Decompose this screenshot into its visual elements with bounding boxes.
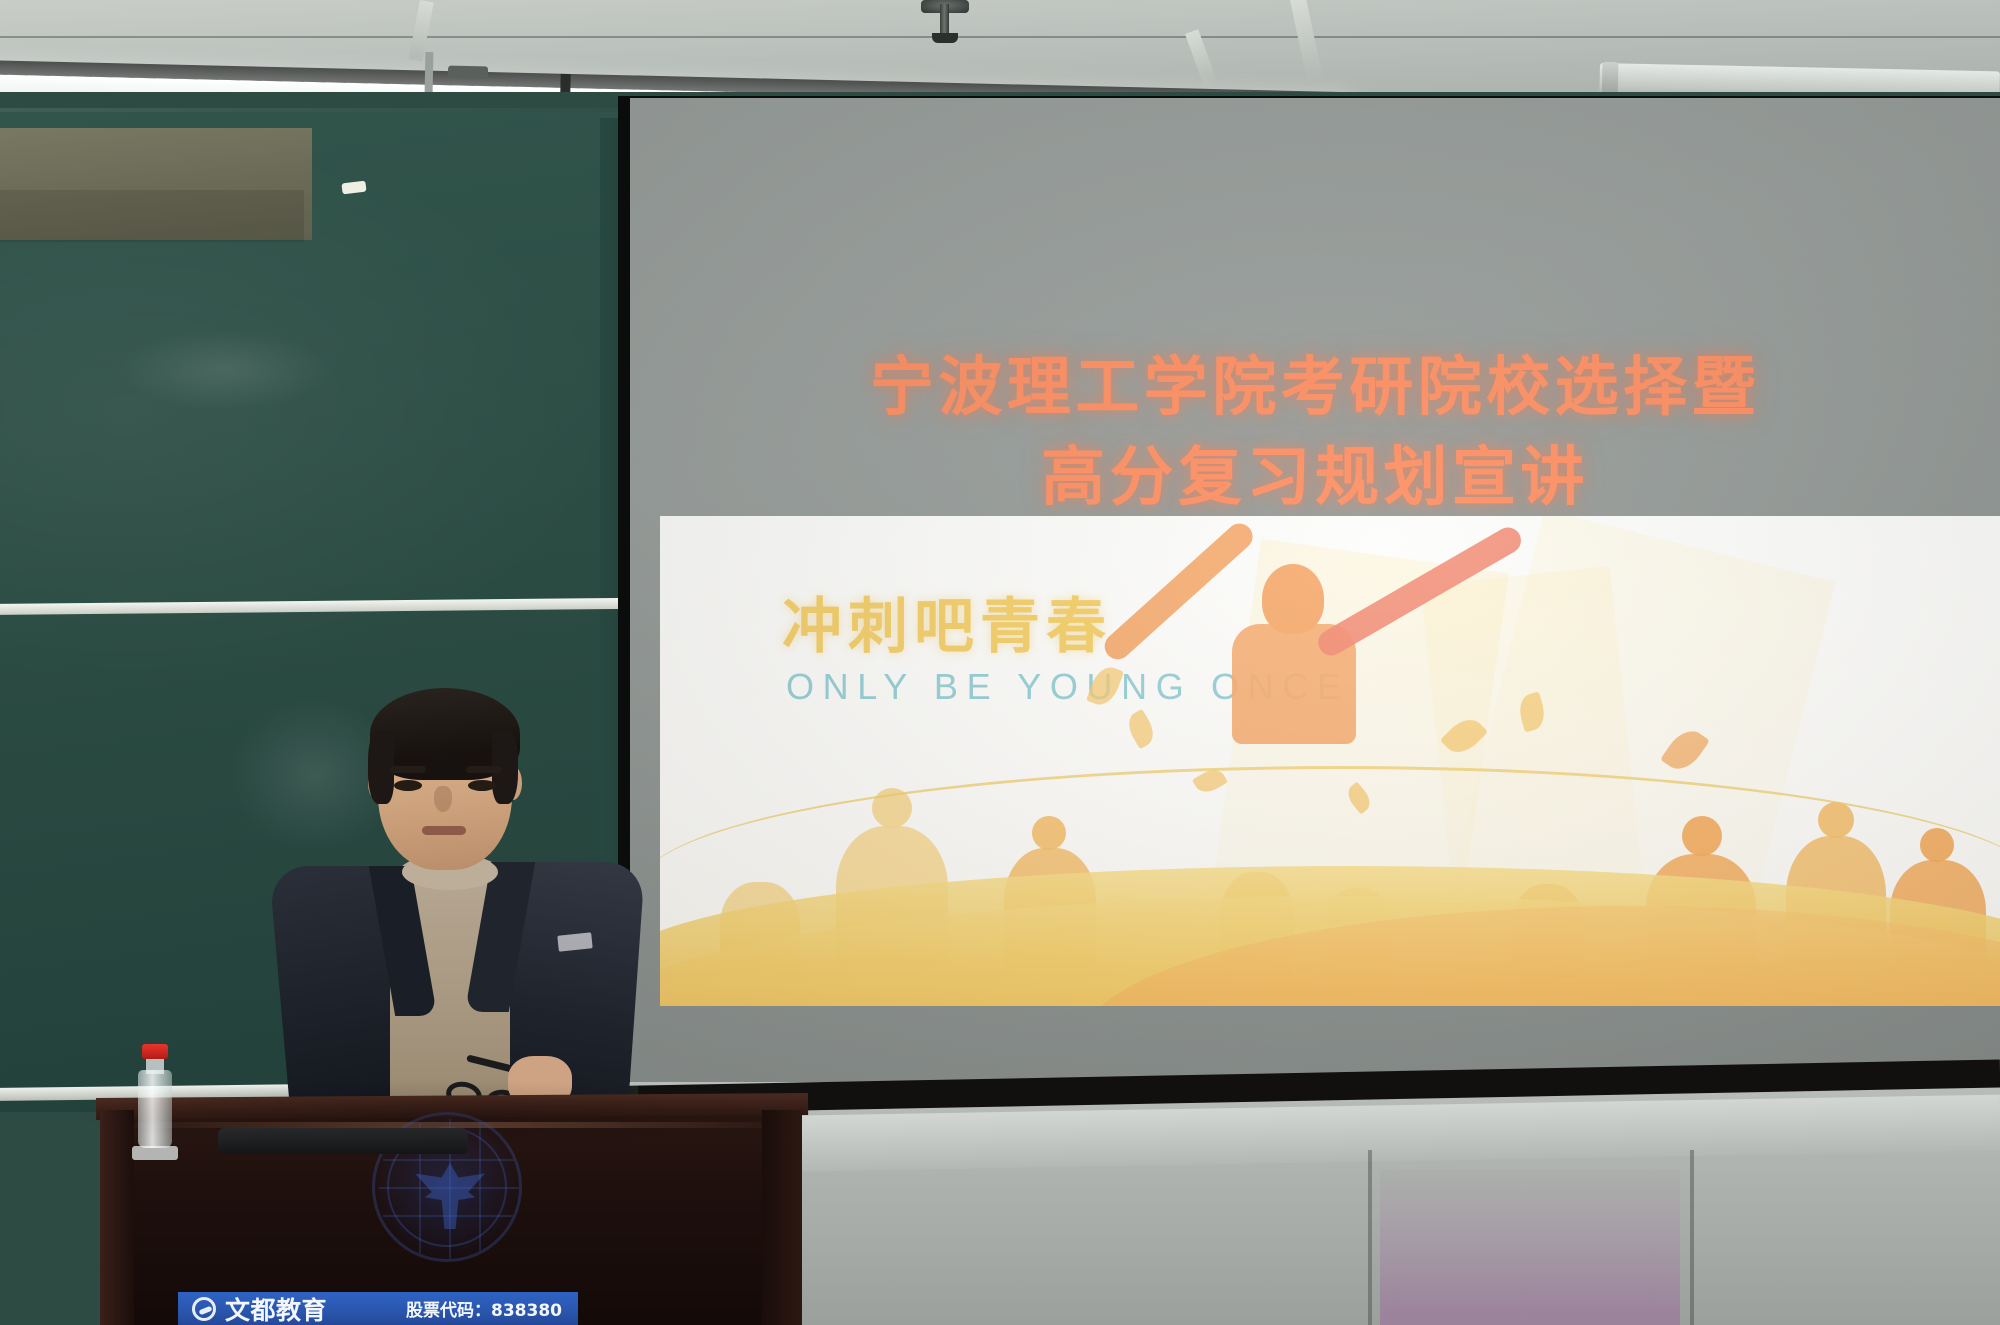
tube-end-cap [448, 66, 488, 79]
slide-card-chinese-text: 冲刺吧青春 [782, 578, 1112, 665]
wall-banner-shade [0, 190, 304, 242]
lectern-left-edge [100, 1110, 134, 1325]
lecture-hall-scene: 宁波理工学院考研院校选择暨 高分复习规划宣讲 冲刺吧青春 ONLY BE YOU… [0, 0, 2000, 1325]
tube-hanger [425, 52, 434, 92]
projection-screen: 宁波理工学院考研院校选择暨 高分复习规划宣讲 冲刺吧青春 ONLY BE YOU… [630, 98, 2000, 1083]
wall-panel [1380, 1170, 1680, 1325]
mouth [422, 826, 466, 835]
bottle-cap [142, 1044, 168, 1059]
sponsor-stock-code: 股票代码：838380 [406, 1296, 562, 1321]
lectern-sponsor-banner: 文都教育 股票代码：838380 [178, 1292, 578, 1325]
slide-title-line-2: 高分复习规划宣讲 [630, 426, 2000, 518]
sponsor-brand-name: 文都教育 [225, 1291, 327, 1325]
leaf-shape [1123, 709, 1159, 749]
slide-content-card: 冲刺吧青春 ONLY BE YOUNG ONCE [660, 516, 2000, 1006]
nose [434, 786, 452, 812]
presenter [270, 690, 650, 1120]
lectern-shadow [60, 1080, 820, 1150]
wendu-logo-icon [192, 1297, 216, 1321]
eyebrow-left [390, 766, 426, 773]
ceiling-seam [0, 36, 2000, 38]
eye-right [468, 780, 496, 791]
eye-left [394, 780, 422, 791]
slide-title-line-1: 宁波理工学院考研院校选择暨 [630, 336, 2000, 428]
lectern-right-edge [762, 1110, 802, 1325]
wall-seam [1368, 1150, 1372, 1325]
bottle-base [132, 1146, 178, 1160]
wall-seam [1690, 1150, 1694, 1325]
eyebrow-right [466, 766, 502, 773]
chalk-smudge [120, 330, 330, 410]
sprinkler-cap [932, 33, 958, 43]
